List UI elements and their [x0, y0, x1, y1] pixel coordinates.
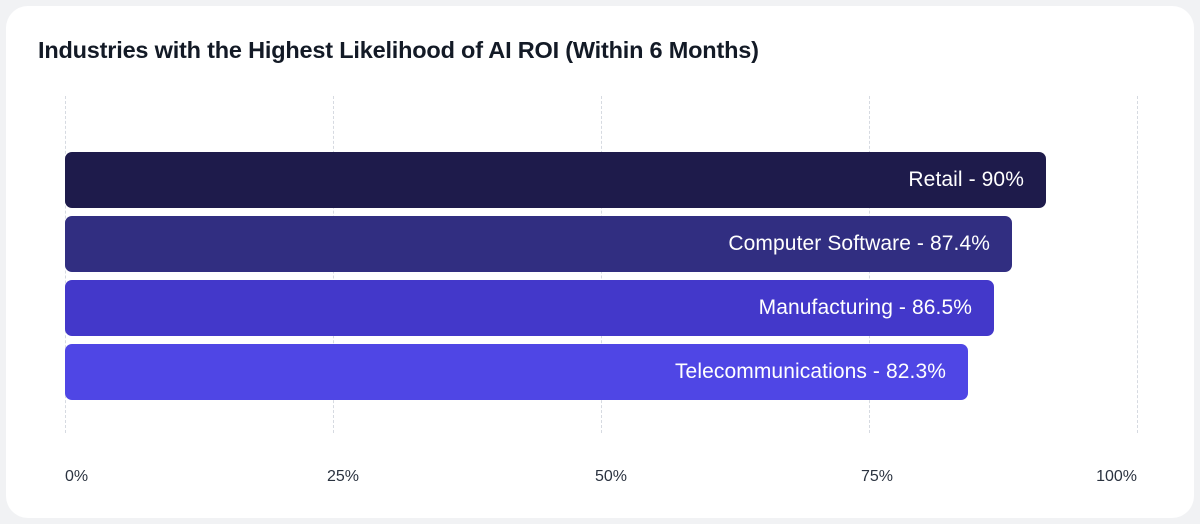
bar-row: Manufacturing - 86.5%	[65, 280, 1137, 336]
page-background: Industries with the Highest Likelihood o…	[0, 0, 1200, 524]
bar-retail[interactable]: Retail - 90%	[65, 152, 1046, 208]
bar-label: Manufacturing - 86.5%	[759, 296, 972, 320]
bar-label: Computer Software - 87.4%	[728, 232, 990, 256]
x-tick-100: 100%	[1096, 468, 1137, 486]
bar-telecommunications[interactable]: Telecommunications - 82.3%	[65, 344, 968, 400]
chart-card: Industries with the Highest Likelihood o…	[6, 6, 1194, 518]
bar-computer-software[interactable]: Computer Software - 87.4%	[65, 216, 1012, 272]
x-tick-50: 50%	[595, 468, 627, 486]
x-axis: 0% 25% 50% 75% 100%	[65, 468, 1137, 490]
plot-area: Retail - 90% Computer Software - 87.4% M…	[65, 96, 1137, 433]
x-tick-0: 0%	[65, 468, 88, 486]
x-tick-75: 75%	[861, 468, 893, 486]
bar-manufacturing[interactable]: Manufacturing - 86.5%	[65, 280, 994, 336]
bar-label: Telecommunications - 82.3%	[675, 360, 946, 384]
bar-row: Retail - 90%	[65, 152, 1137, 208]
page-title: Industries with the Highest Likelihood o…	[38, 37, 759, 64]
bar-label: Retail - 90%	[908, 168, 1024, 192]
bar-series: Retail - 90% Computer Software - 87.4% M…	[65, 152, 1137, 412]
gridline-100	[1137, 96, 1138, 433]
bar-row: Computer Software - 87.4%	[65, 216, 1137, 272]
x-tick-25: 25%	[327, 468, 359, 486]
bar-row: Telecommunications - 82.3%	[65, 344, 1137, 400]
